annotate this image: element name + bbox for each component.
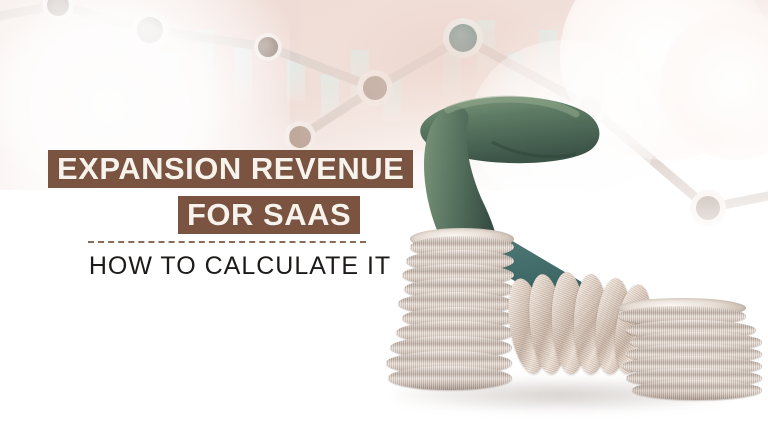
promo-banner: EXPANSION REVENUE FOR SAAS HOW TO CALCUL… xyxy=(0,0,768,432)
title-line-primary: EXPANSION REVENUE xyxy=(48,150,413,188)
title-line-secondary: FOR SAAS xyxy=(178,196,360,234)
title-block: EXPANSION REVENUE FOR SAAS HOW TO CALCUL… xyxy=(0,0,768,432)
dashed-divider xyxy=(88,241,366,243)
subtitle-text: HOW TO CALCULATE IT xyxy=(80,252,400,281)
